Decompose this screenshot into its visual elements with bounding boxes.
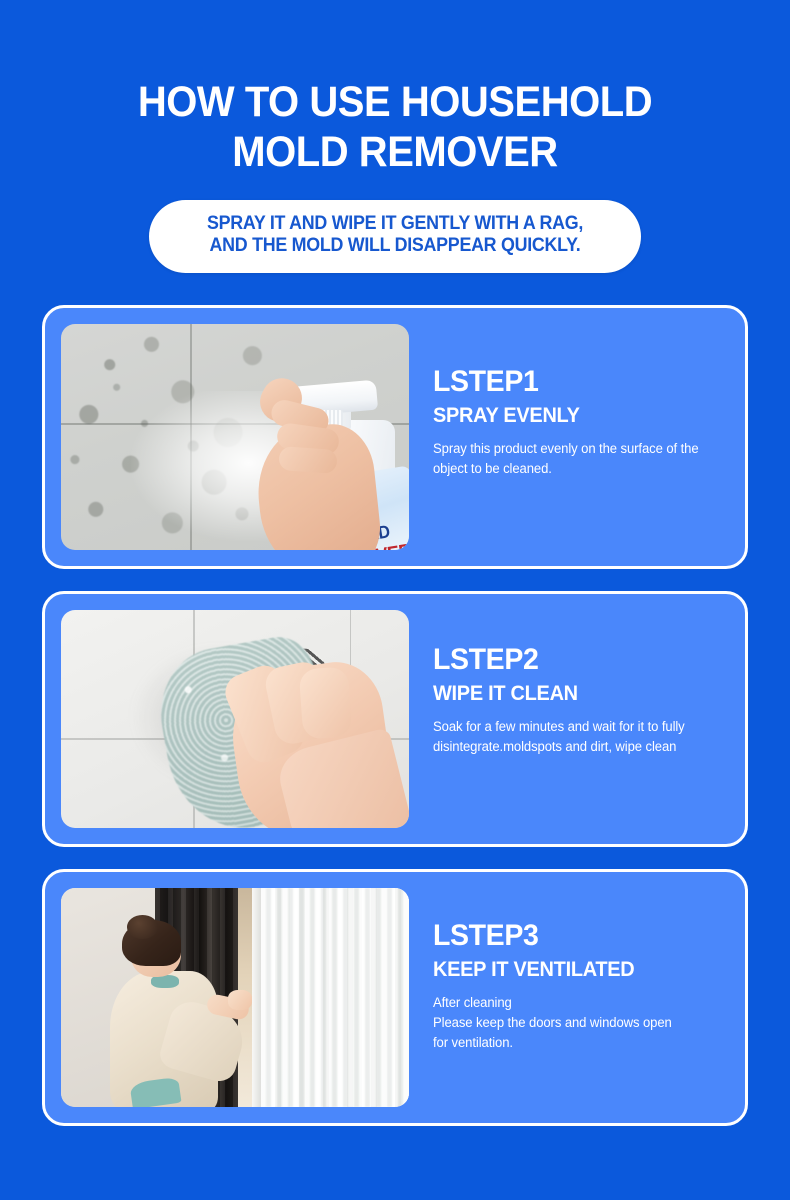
subtitle-pill-wrap: SPRAY IT AND WIPE IT GENTLY WITH A RAG, …	[0, 200, 790, 273]
step-2-label: LSTEP2	[433, 644, 714, 676]
step-1-text: LSTEP1 SPRAY EVENLY Spray this product e…	[409, 324, 729, 480]
step-3-label: LSTEP3	[433, 920, 714, 952]
page-header: HOW TO USE HOUSEHOLD MOLD REMOVER SPRAY …	[0, 0, 790, 273]
step-3-body-line2: Please keep the doors and windows open	[433, 1013, 705, 1033]
step-2-text: LSTEP2 WIPE IT CLEAN Soak for a few minu…	[409, 610, 729, 758]
subtitle-line2: AND THE MOLD WILL DISAPPEAR QUICKLY.	[207, 235, 583, 257]
step-card-1: CAREXY SPECIAL FORMULA STAINS ALL MOLD R…	[42, 305, 748, 569]
page-title-line1: HOW TO USE HOUSEHOLD	[138, 78, 652, 126]
step-3-text: LSTEP3 KEEP IT VENTILATED After cleaning…	[409, 888, 729, 1054]
step-1-label: LSTEP1	[433, 366, 714, 398]
finger-3	[278, 446, 338, 474]
spray-bottle: CAREXY SPECIAL FORMULA STAINS ALL MOLD R…	[265, 362, 409, 550]
step-3-heading: KEEP IT VENTILATED	[433, 958, 714, 981]
subtitle-pill: SPRAY IT AND WIPE IT GENTLY WITH A RAG, …	[149, 200, 641, 273]
page-title-line2: MOLD REMOVER	[28, 128, 763, 178]
step-1-body: Spray this product evenly on the surface…	[433, 439, 705, 479]
step-3-body-line3: for ventilation.	[433, 1033, 705, 1053]
step-1-photo: CAREXY SPECIAL FORMULA STAINS ALL MOLD R…	[61, 324, 409, 550]
step-3-body-line1: After cleaning	[433, 993, 705, 1013]
step-1-heading: SPRAY EVENLY	[433, 404, 714, 427]
steps-list: CAREXY SPECIAL FORMULA STAINS ALL MOLD R…	[0, 305, 790, 1126]
page-title: HOW TO USE HOUSEHOLD MOLD REMOVER	[28, 78, 763, 178]
step-2-photo	[61, 610, 409, 828]
step-2-heading: WIPE IT CLEAN	[433, 682, 714, 705]
step-2-body: Soak for a few minutes and wait for it t…	[433, 717, 705, 757]
woman-collar	[151, 975, 179, 988]
step-card-2: LSTEP2 WIPE IT CLEAN Soak for a few minu…	[42, 591, 748, 847]
finger-3	[299, 667, 352, 740]
step-3-photo	[61, 888, 409, 1107]
window-frame	[252, 888, 261, 1107]
step-3-body: After cleaning Please keep the doors and…	[433, 993, 705, 1053]
subtitle-line1: SPRAY IT AND WIPE IT GENTLY WITH A RAG,	[207, 213, 583, 235]
sheer-curtain	[249, 888, 409, 1107]
woman-hand	[228, 990, 252, 1010]
step-card-3: LSTEP3 KEEP IT VENTILATED After cleaning…	[42, 869, 748, 1126]
